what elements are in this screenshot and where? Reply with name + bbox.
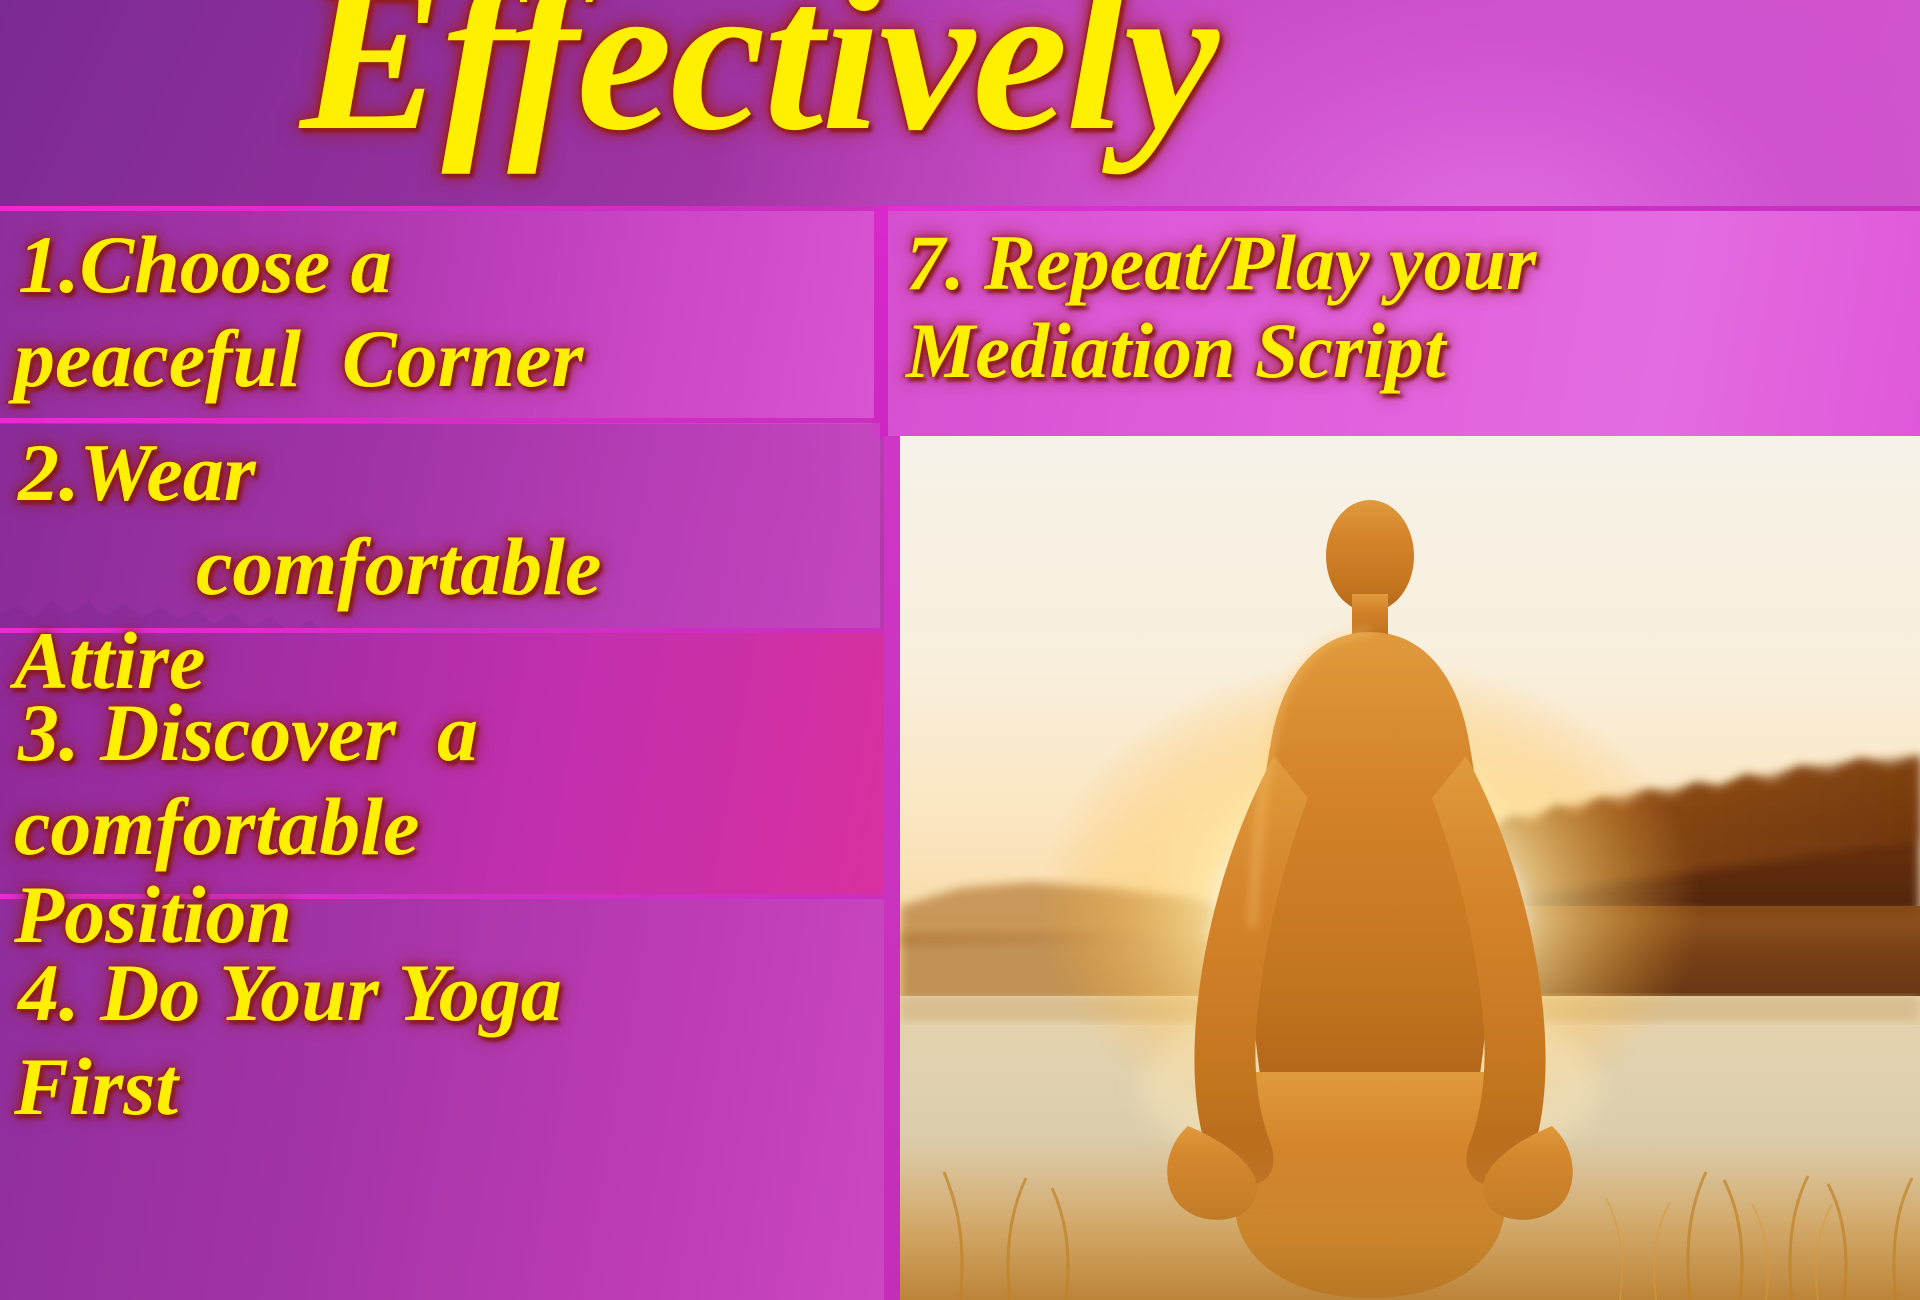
step-3-line-1: 3. Discover a	[18, 690, 478, 777]
page-title: Effectively	[300, 0, 1217, 163]
divider-column-vertical	[872, 206, 888, 438]
step-7-line-1: 7. Repeat/Play your	[906, 222, 1536, 305]
step-3-line-3: Position	[14, 872, 292, 959]
step-1-line-2: peaceful Corner	[14, 316, 583, 403]
step-2-line-2: comfortable	[196, 524, 601, 611]
poster-title-bar: Effectively	[0, 0, 1920, 210]
step-4-line-1: 4. Do Your Yoga	[18, 950, 562, 1037]
step-1-line-1: 1.Choose a	[18, 222, 392, 309]
step-2-line-1: 2.Wear	[18, 430, 256, 517]
step-3-line-2: comfortable	[14, 784, 419, 871]
meditation-sunset-photo	[900, 436, 1920, 1300]
step-7-line-2: Mediation Script	[906, 310, 1446, 393]
poster-canvas: Effectively 1.Choose a peaceful Corner 2…	[0, 0, 1920, 1300]
step-4-line-2: First	[14, 1044, 178, 1131]
